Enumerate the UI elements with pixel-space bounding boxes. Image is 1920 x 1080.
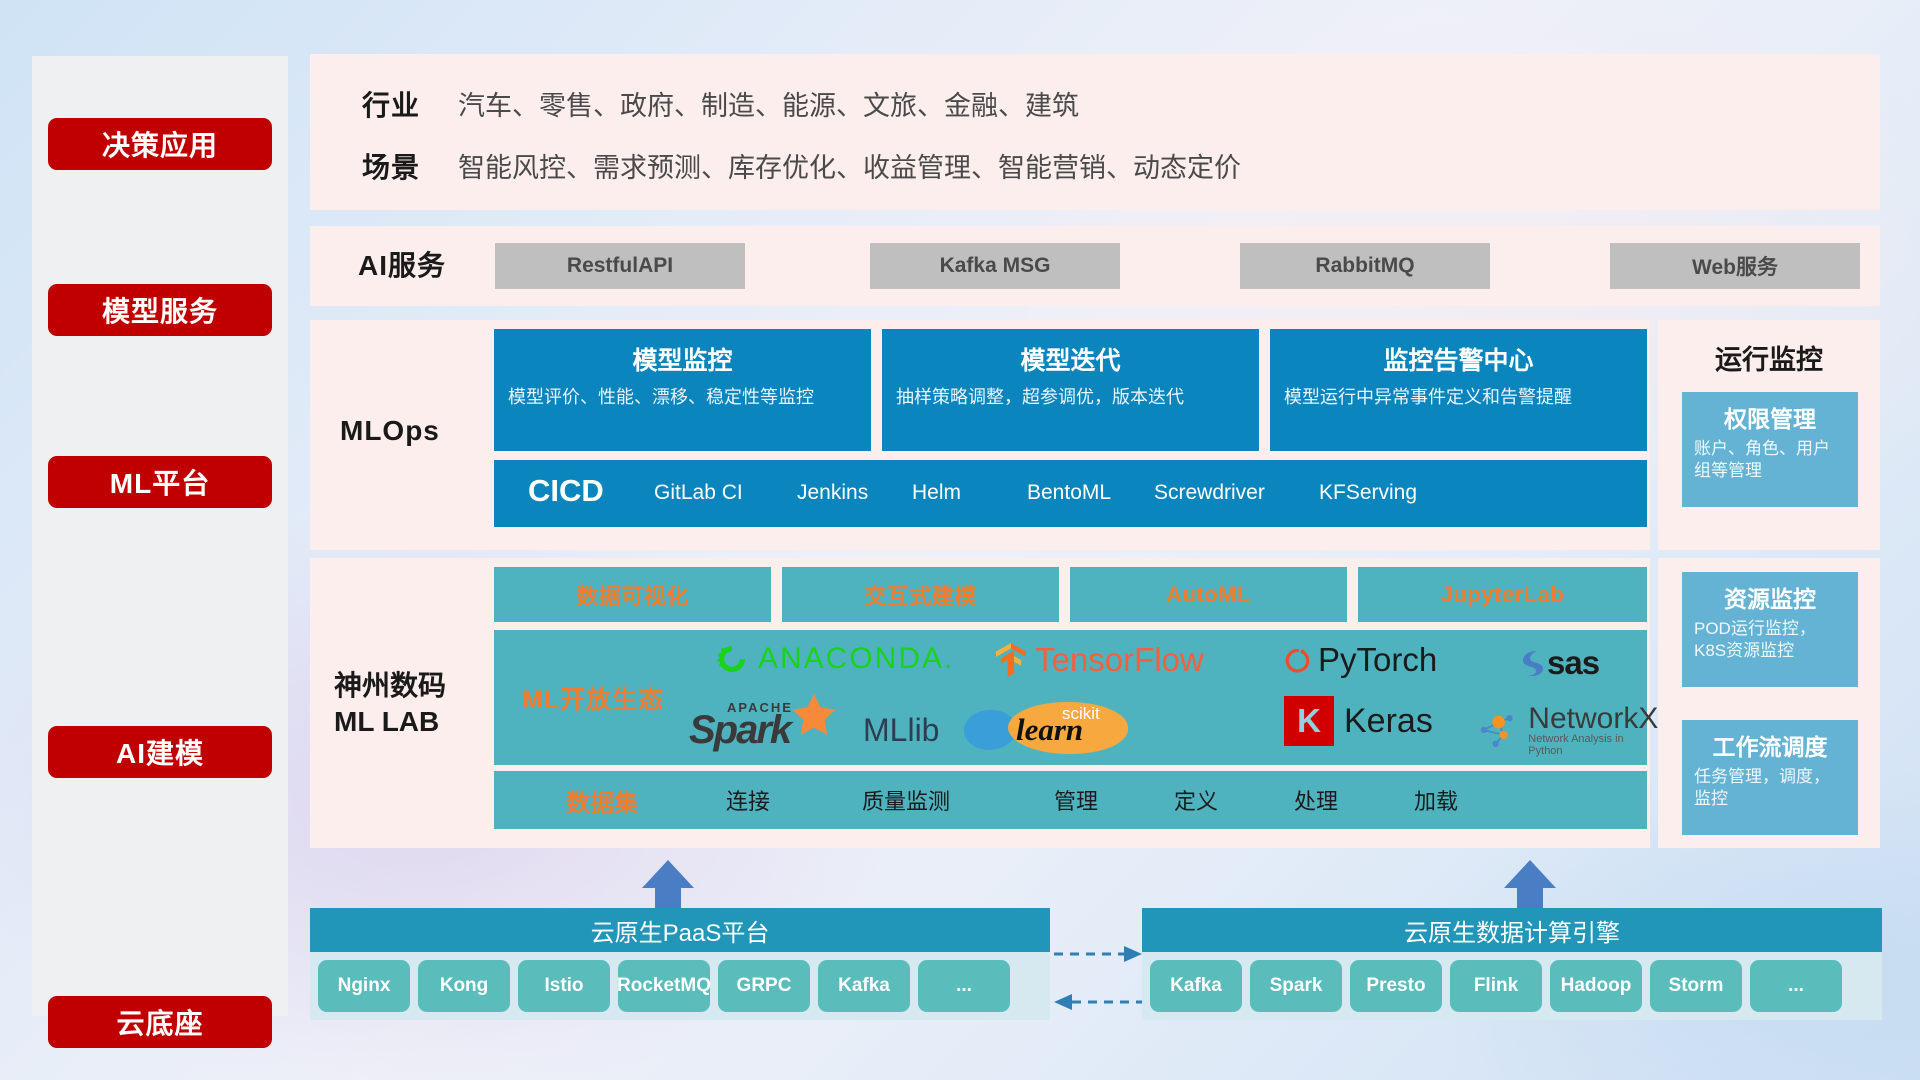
sas-logo: sas [1516,644,1599,682]
compute-chip-tray: Kafka Spark Presto Flink Hadoop Storm ..… [1142,952,1882,1020]
ai-modeling-band: 神州数码 ML LAB 数据可视化 交互式建模 AutoML JupyterLa… [310,558,1650,848]
monitor-band-bottom: 资源监控 POD运行监控，K8S资源监控 工作流调度 任务管理，调度，监控 [1658,558,1880,848]
service-chip-web-service[interactable]: Web服务 [1610,243,1860,289]
paas-chip-kafka[interactable]: Kafka [818,960,910,1012]
ml-lab-label: 神州数码 ML LAB [334,668,446,741]
cicd-bar: CICD GitLab CI Jenkins Helm BentoML Scre… [494,460,1647,527]
chip-label: Web服务 [1692,251,1778,281]
cloud-base-compute: 云原生数据计算引擎 Kafka Spark Presto Flink Hadoo… [1142,908,1882,1020]
dataset-item-process[interactable]: 处理 [1294,784,1338,816]
scenario-value: 智能风控、需求预测、库存优化、收益管理、智能营销、动态定价 [458,146,1241,185]
scikit-learn-logo: scikit learn [964,702,1179,754]
mlops-label: MLOps [340,415,440,447]
networkx-wordmark: NetworkX [1528,702,1659,736]
pytorch-wordmark: PyTorch [1318,641,1437,679]
dataset-item-connect[interactable]: 连接 [726,784,770,816]
compute-chip-spark[interactable]: Spark [1250,960,1342,1012]
anaconda-logo: ANACONDA. [715,642,954,676]
rail-item-decision-app[interactable]: 决策应用 [48,118,272,170]
networkx-tagline: Network Analysis in Python [1528,733,1659,757]
keras-wordmark: Keras [1344,702,1433,741]
service-chip-restfulapi[interactable]: RestfulAPI [495,243,745,289]
card-desc: 任务管理，调度，监控 [1694,766,1846,810]
paas-chip-more[interactable]: ... [918,960,1010,1012]
tab-jupyterlab[interactable]: JupyterLab [1358,567,1647,622]
keras-mark: K [1297,702,1321,740]
cloud-base-paas: 云原生PaaS平台 Nginx Kong Istio RocketMQ GRPC… [310,908,1050,1020]
cicd-tool-screwdriver[interactable]: Screwdriver [1154,474,1264,506]
cicd-tool-gitlab-ci[interactable]: GitLab CI [654,474,769,506]
paas-chip-kong[interactable]: Kong [418,960,510,1012]
cicd-label: CICD [528,473,604,509]
rail-item-cloud-base[interactable]: 云底座 [48,996,272,1048]
tab-label: 交互式建模 [864,579,977,611]
card-title: 权限管理 [1694,400,1846,434]
dataset-label: 数据集 [566,783,638,818]
rail-label: AI建模 [116,732,204,772]
tab-automl[interactable]: AutoML [1070,567,1347,622]
learn-text: learn [1016,712,1083,748]
service-chip-kafka-msg[interactable]: Kafka MSG [870,243,1120,289]
sas-wordmark: sas [1547,644,1599,682]
monitor-band-top: 运行监控 权限管理 账户、角色、用户组等管理 [1658,320,1880,550]
mlops-band: MLOps 模型监控 模型评价、性能、漂移、稳定性等监控 模型迭代 抽样策略调整… [310,320,1650,550]
mlops-card-model-monitoring[interactable]: 模型监控 模型评价、性能、漂移、稳定性等监控 [494,329,871,451]
compute-chip-storm[interactable]: Storm [1650,960,1742,1012]
chip-label: RabbitMQ [1315,254,1414,278]
tab-label: AutoML [1166,582,1251,608]
compute-title: 云原生数据计算引擎 [1142,908,1882,952]
paas-chip-rocketmq[interactable]: RocketMQ [618,960,710,1012]
card-title: 工作流调度 [1694,728,1846,762]
anaconda-wordmark: ANACONDA. [758,642,954,676]
pytorch-logo: PyTorch [1284,641,1437,679]
ml-lab-line2: ML LAB [334,704,446,740]
cicd-tool-helm[interactable]: Helm [912,474,987,506]
compute-chip-more[interactable]: ... [1750,960,1842,1012]
monitor-card-resource[interactable]: 资源监控 POD运行监控，K8S资源监控 [1682,572,1858,687]
tab-interactive-modeling[interactable]: 交互式建模 [782,567,1059,622]
dataset-item-manage[interactable]: 管理 [1054,784,1098,816]
dashed-connectors [1050,940,1146,1030]
rail-item-ml-platform[interactable]: ML平台 [48,456,272,508]
card-title: 资源监控 [1694,580,1846,614]
tab-label: 数据可视化 [576,579,689,611]
dataset-item-quality[interactable]: 质量监测 [862,784,950,816]
card-title: 模型迭代 [896,341,1245,377]
paas-chip-istio[interactable]: Istio [518,960,610,1012]
card-desc: 账户、角色、用户组等管理 [1694,438,1846,482]
card-title: 监控告警中心 [1284,341,1633,377]
rail-label: 决策应用 [102,124,218,164]
ml-lab-line1: 神州数码 [334,668,446,704]
card-desc: 抽样策略调整，超参调优，版本迭代 [896,386,1245,410]
tab-label: JupyterLab [1441,582,1565,608]
ai-service-band: AI服务 RestfulAPI Kafka MSG RabbitMQ Web服务 [310,226,1880,306]
rail-label: 模型服务 [102,290,218,330]
rail-label: ML平台 [110,462,210,502]
scenario-label: 场景 [362,146,420,186]
card-title: 模型监控 [508,341,857,377]
mlops-card-alert-center[interactable]: 监控告警中心 模型运行中异常事件定义和告警提醒 [1270,329,1647,451]
dataset-item-load[interactable]: 加载 [1414,784,1458,816]
ai-service-label: AI服务 [358,244,446,284]
spark-mllib-logo: APACHE Spark MLlib [689,696,939,754]
compute-chip-hadoop[interactable]: Hadoop [1550,960,1642,1012]
mllib-wordmark: MLlib [863,712,939,749]
compute-chip-flink[interactable]: Flink [1450,960,1542,1012]
card-desc: POD运行监控，K8S资源监控 [1694,618,1846,662]
mlops-card-model-iteration[interactable]: 模型迭代 抽样策略调整，超参调优，版本迭代 [882,329,1259,451]
stack-layer-rail: 决策应用 模型服务 ML平台 AI建模 云底座 [32,56,288,1016]
arrow-up-paas [638,858,698,914]
keras-logo: K Keras [1284,696,1433,746]
compute-chip-presto[interactable]: Presto [1350,960,1442,1012]
paas-title: 云原生PaaS平台 [310,908,1050,952]
tensorflow-wordmark: TensorFlow [1035,641,1204,679]
networkx-logo: NetworkX Network Analysis in Python [1474,702,1659,757]
rail-item-ai-modeling[interactable]: AI建模 [48,726,272,778]
card-desc: 模型运行中异常事件定义和告警提醒 [1284,386,1633,410]
rail-label: 云底座 [116,1002,203,1042]
cicd-tool-bentoml[interactable]: BentoML [1027,474,1109,506]
cicd-tool-kfserving[interactable]: KFServing [1319,474,1415,506]
arrow-up-compute [1500,858,1560,914]
rail-item-model-service[interactable]: 模型服务 [48,284,272,336]
paas-chip-grpc[interactable]: GRPC [718,960,810,1012]
tensorflow-logo: TensorFlow [994,641,1204,679]
spark-wordmark: Spark [689,708,790,753]
cicd-tool-jenkins[interactable]: Jenkins [797,474,857,506]
industry-label: 行业 [362,84,420,124]
compute-chip-kafka[interactable]: Kafka [1150,960,1242,1012]
ml-ecosystem-label: ML开放生态 [522,680,664,716]
dataset-bar: 数据集 连接 质量监测 管理 定义 处理 加载 [494,771,1647,829]
monitor-title: 运行监控 [1658,338,1880,377]
card-desc: 模型评价、性能、漂移、稳定性等监控 [508,386,857,410]
industry-value: 汽车、零售、政府、制造、能源、文旅、金融、建筑 [458,84,1079,123]
decision-application-band: 行业 汽车、零售、政府、制造、能源、文旅、金融、建筑 场景 智能风控、需求预测、… [310,54,1880,210]
tab-data-visualization[interactable]: 数据可视化 [494,567,771,622]
service-chip-rabbitmq[interactable]: RabbitMQ [1240,243,1490,289]
chip-label: Kafka MSG [940,254,1051,278]
ml-ecosystem-panel: ML开放生态 ANACONDA. TensorFlow [494,630,1647,765]
paas-chip-tray: Nginx Kong Istio RocketMQ GRPC Kafka ... [310,952,1050,1020]
monitor-card-permission[interactable]: 权限管理 账户、角色、用户组等管理 [1682,392,1858,507]
monitor-card-workflow[interactable]: 工作流调度 任务管理，调度，监控 [1682,720,1858,835]
chip-label: RestfulAPI [567,254,673,278]
dataset-item-define[interactable]: 定义 [1174,784,1218,816]
paas-chip-nginx[interactable]: Nginx [318,960,410,1012]
